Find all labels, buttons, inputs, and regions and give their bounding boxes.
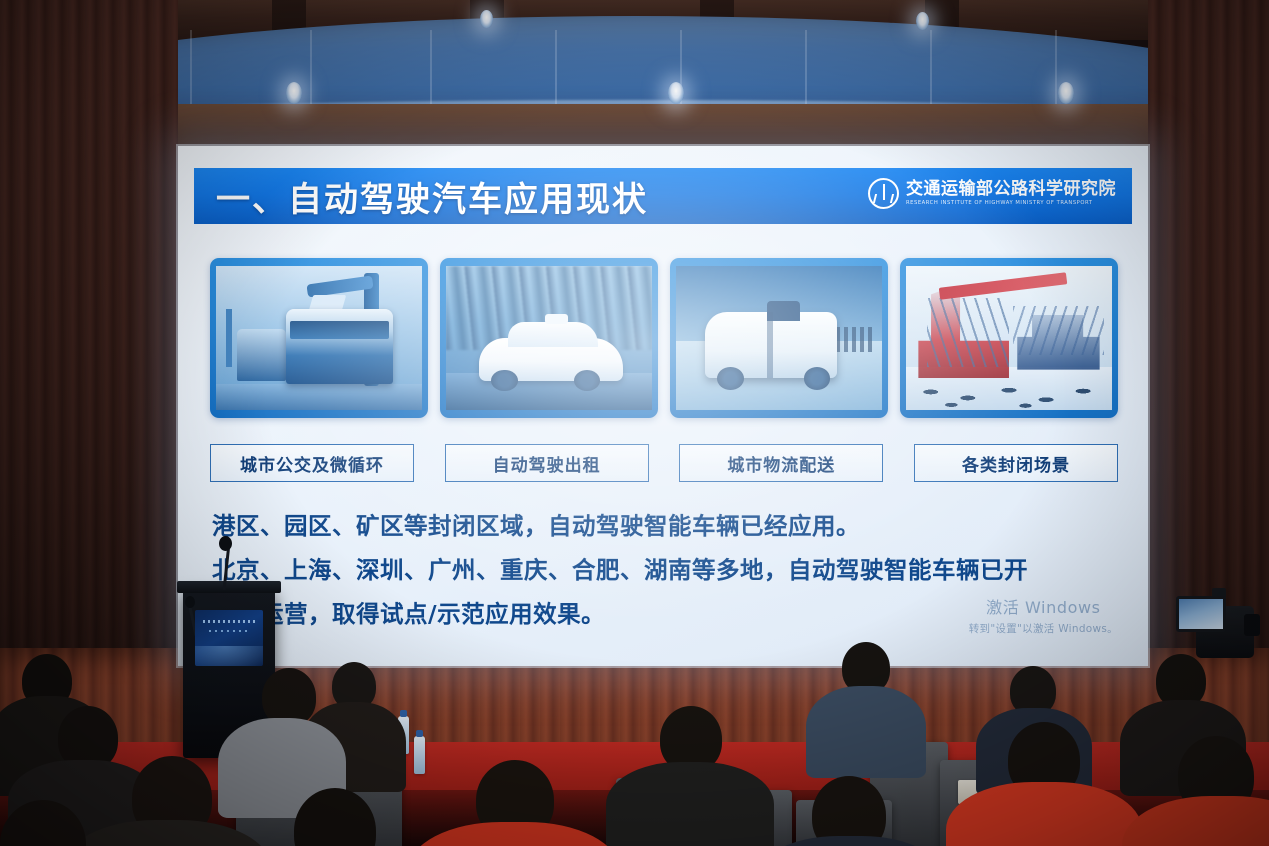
podium-top-surface	[177, 581, 281, 593]
projection-screen: 一、自动驾驶汽车应用现状 交通运输部公路科学研究院 RESEARCH INSTI…	[178, 146, 1148, 666]
audience-body	[806, 686, 926, 778]
audience-body	[408, 822, 620, 846]
microphone-icon-secondary	[185, 596, 195, 608]
logo-chinese-name: 交通运输部公路科学研究院	[906, 181, 1116, 198]
slide-title: 一、自动驾驶汽车应用现状	[216, 172, 648, 221]
audience-body	[606, 762, 774, 846]
highway-institute-logo-icon	[868, 178, 899, 209]
institute-logo: 交通运输部公路科学研究院 RESEARCH INSTITUTE OF HIGHW…	[868, 178, 1116, 209]
body-line-2: 北京、上海、深圳、广州、重庆、合肥、湖南等多地，自动驾驶智能车辆已开	[212, 548, 1118, 592]
slide-caption-row: 城市公交及微循环 自动驾驶出租 城市物流配送 各类封闭场景	[210, 444, 1118, 480]
camera-lens-icon	[1244, 614, 1260, 636]
caption-box-city-bus: 城市公交及微循环	[210, 444, 414, 482]
audience-body	[1122, 796, 1269, 846]
body-line-3: 业化运营，取得试点/示范应用效果。	[212, 592, 1118, 636]
ceiling-downlight-icon	[286, 82, 302, 104]
photo-autonomous-delivery-pod	[670, 258, 888, 418]
logo-english-name: RESEARCH INSTITUTE OF HIGHWAY MINISTRY O…	[906, 201, 1116, 206]
body-line-1: 港区、园区、矿区等封闭区域，自动驾驶智能车辆已经应用。	[212, 504, 1118, 548]
caption-box-closed-scenarios: 各类封闭场景	[914, 444, 1118, 482]
slide-title-bar: 一、自动驾驶汽车应用现状 交通运输部公路科学研究院 RESEARCH INSTI…	[194, 168, 1132, 224]
slide-photo-row	[210, 258, 1118, 418]
photo-electric-bus-charging	[210, 258, 428, 418]
microphone-icon	[219, 536, 232, 551]
camera-lcd-screen	[1176, 596, 1226, 632]
water-bottle	[414, 736, 425, 774]
slide-body-text: 港区、园区、矿区等封闭区域，自动驾驶智能车辆已经应用。 北京、上海、深圳、广州、…	[212, 504, 1118, 636]
ceiling-downlight-icon	[668, 82, 684, 104]
caption-box-robotaxi: 自动驾驶出租	[445, 444, 649, 482]
photo-port-container-terminal	[900, 258, 1118, 418]
ceiling-downlight-icon	[916, 12, 929, 30]
screenshot-root: 一、自动驾驶汽车应用现状 交通运输部公路科学研究院 RESEARCH INSTI…	[0, 0, 1269, 846]
photo-robotaxi-suv	[440, 258, 658, 418]
caption-box-city-logistics: 城市物流配送	[679, 444, 883, 482]
audience-area: 张	[0, 640, 1269, 846]
ceiling-downlight-icon	[1058, 82, 1074, 104]
ceiling-downlight-icon	[480, 10, 493, 28]
